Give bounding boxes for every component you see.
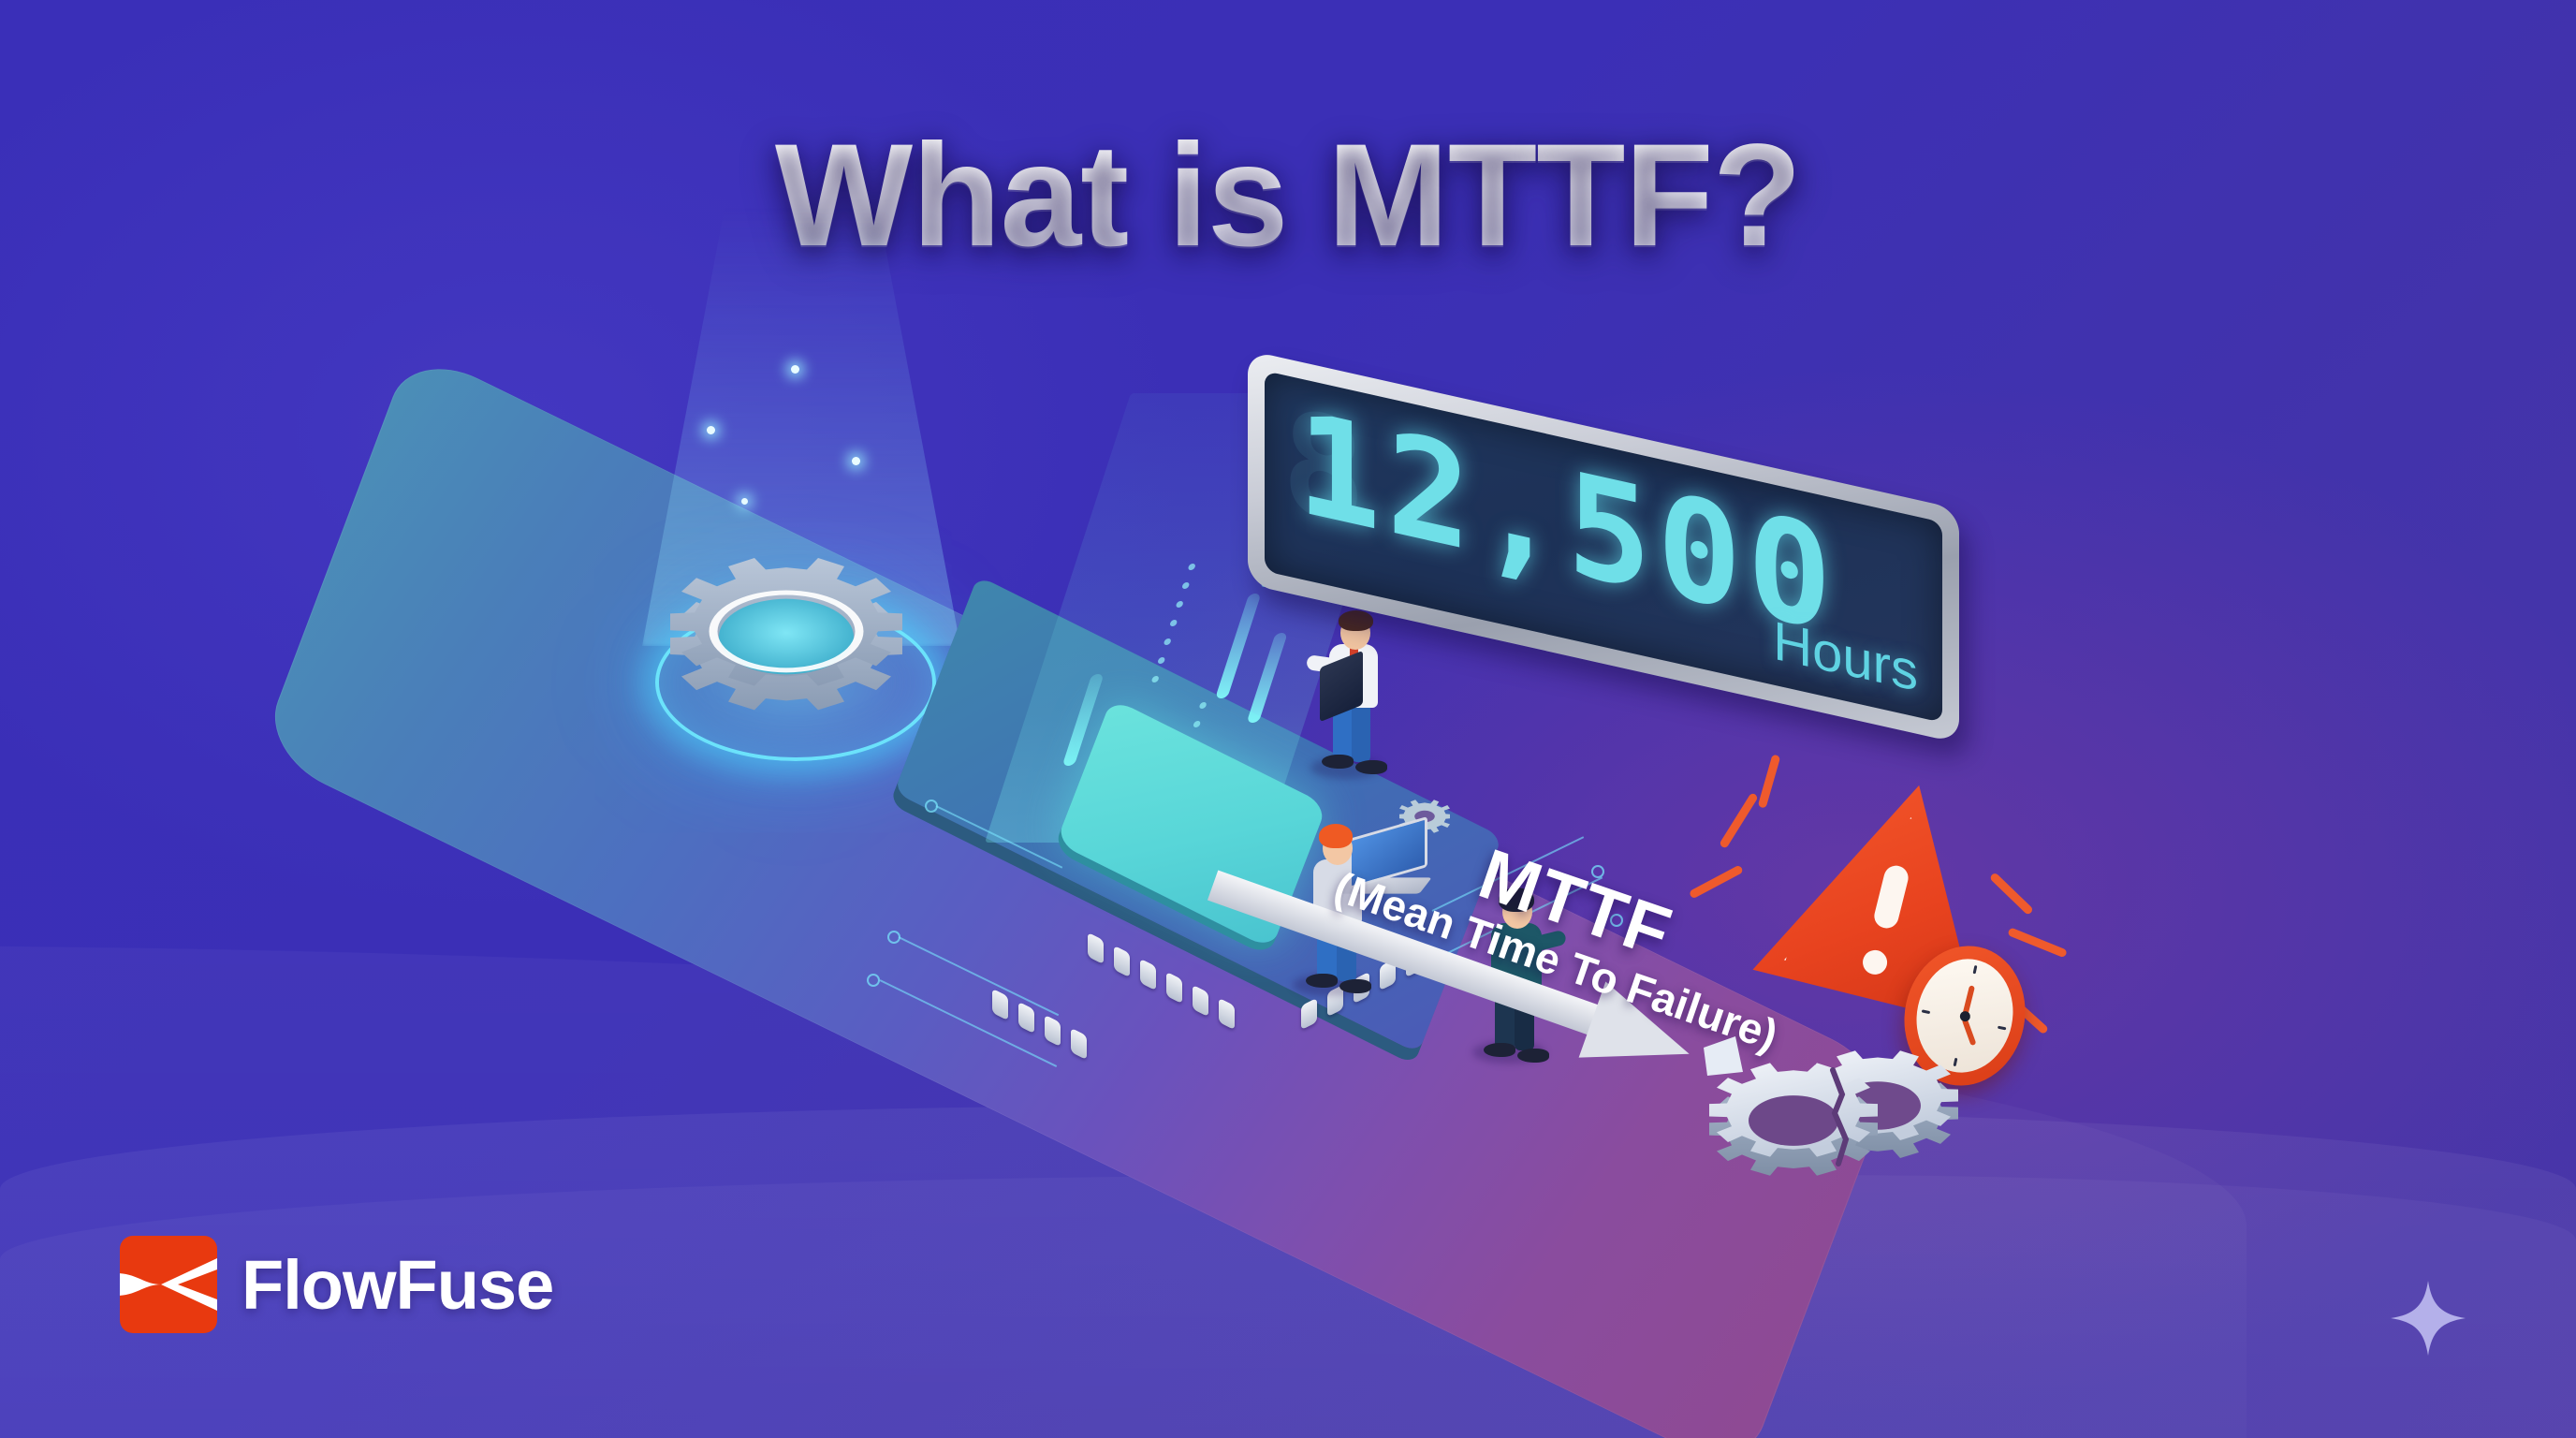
hologram-bar (1215, 594, 1261, 698)
person-hair (1339, 610, 1373, 631)
brand-name: FlowFuse (241, 1245, 553, 1325)
sparkle-icon (2389, 1279, 2467, 1357)
display-unit: Hours (1773, 609, 1918, 704)
circuit-node (925, 800, 938, 813)
beam-spark (791, 365, 799, 374)
person-shoe (1355, 760, 1387, 774)
page-title: What is MTTF? (0, 112, 2576, 280)
poster-canvas: What is MTTF? (0, 0, 2576, 1438)
brand-logo[interactable]: FlowFuse (120, 1236, 553, 1333)
circuit-node (867, 974, 880, 987)
person-with-clipboard (1301, 599, 1413, 786)
beam-spark (852, 457, 860, 465)
circuit-node (887, 931, 900, 944)
person-leg (1352, 704, 1370, 762)
hologram-dots (1147, 564, 1195, 695)
clock-tick (1922, 1009, 1930, 1014)
clock-tick (1972, 965, 1977, 974)
broken-gear-icon (1694, 1016, 1994, 1194)
gear-icon (637, 506, 936, 730)
flowfuse-mark-icon (120, 1236, 217, 1333)
clock-tick (1998, 1026, 2006, 1031)
beam-spark (741, 498, 748, 505)
person-shoe (1322, 755, 1354, 769)
beam-spark (707, 426, 715, 434)
hologram-bar (1247, 633, 1288, 723)
